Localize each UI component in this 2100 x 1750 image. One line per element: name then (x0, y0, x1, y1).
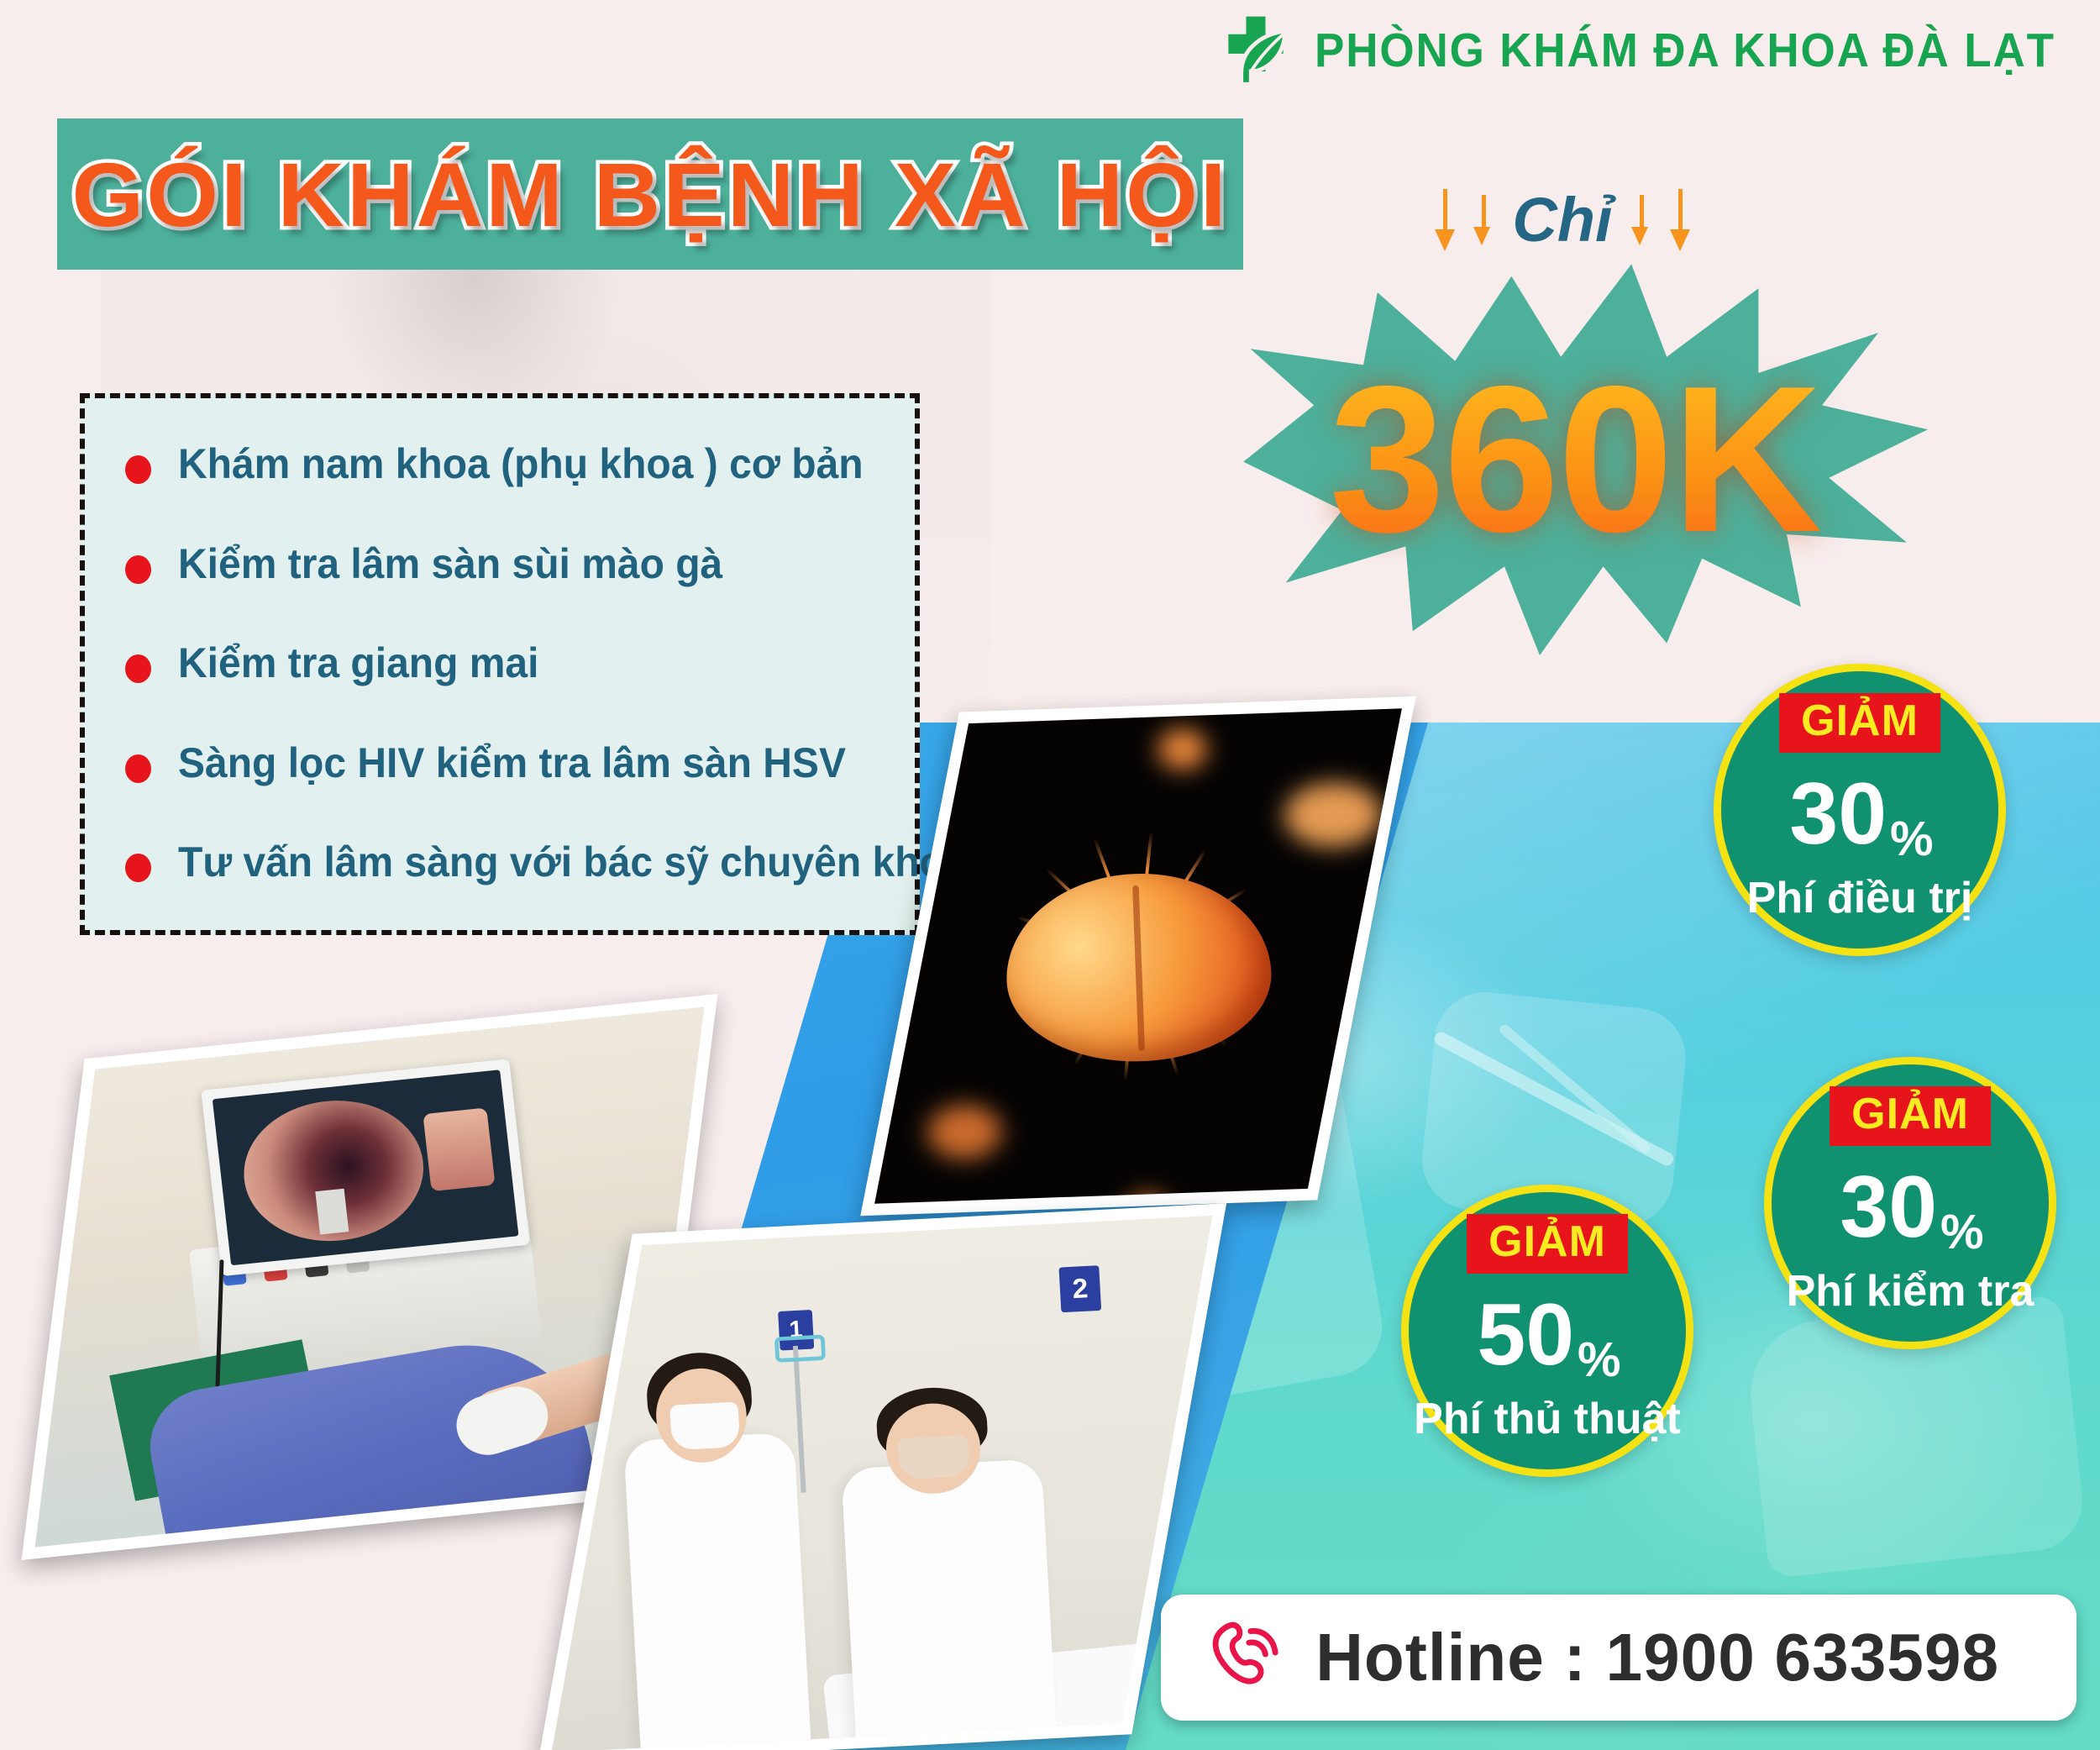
bullet-dot-icon (125, 754, 151, 783)
brand-name: PHÒNG KHÁM ĐA KHOA ĐÀ LẠT (1315, 23, 2055, 78)
service-label: Tư vấn lâm sàng với bác sỹ chuyên khoa (178, 840, 967, 885)
discount-badge-checkup: GIẢM 30% Phí kiểm tra (1764, 1057, 2056, 1349)
room-number-label: 2 (1059, 1265, 1102, 1312)
badge-percent-symbol: % (1890, 812, 1934, 866)
price-prefix-row: Chỉ (1378, 180, 1747, 260)
title-banner: GÓI KHÁM BỆNH XÃ HỘI (57, 118, 1243, 270)
service-label: Kiểm tra lâm sàn sùi mào gà (178, 542, 722, 586)
list-item: Khám nam khoa (phụ khoa ) cơ bản (125, 442, 881, 486)
arrow-down-icon (1631, 195, 1651, 245)
medical-cross-leaf-icon (1215, 10, 1296, 91)
badge-ribbon-label: GIẢM (1830, 1086, 1991, 1146)
list-item: Sàng lọc HIV kiểm tra lâm sàn HSV (125, 741, 881, 786)
badge-caption: Phí thủ thuật (1409, 1396, 1686, 1443)
badge-percent-value: 30 (1840, 1159, 1937, 1256)
phone-call-icon (1201, 1615, 1284, 1701)
bullet-dot-icon (125, 555, 151, 584)
doctors-photo-image: 1 2 (551, 1216, 1212, 1750)
badge-percent-symbol: % (1578, 1332, 1621, 1387)
list-item: Tư vấn lâm sàng với bác sỹ chuyên khoa (125, 840, 881, 885)
service-label: Khám nam khoa (phụ khoa ) cơ bản (178, 442, 864, 486)
bullet-dot-icon (125, 455, 151, 484)
brand-header: PHÒNG KHÁM ĐA KHOA ĐÀ LẠT (1215, 10, 2100, 91)
hotline-label: Hotline : 1900 633598 (1315, 1619, 1999, 1696)
doctors-illustration: 1 2 (551, 1216, 1212, 1750)
price-burst: 360K (1222, 252, 1928, 655)
bacteria-illustration (874, 708, 1402, 1204)
page-title: GÓI KHÁM BỆNH XÃ HỘI (71, 142, 1228, 247)
bullet-dot-icon (125, 654, 151, 683)
list-item: Kiểm tra lâm sàn sùi mào gà (125, 542, 881, 586)
bacteria-photo-image (874, 708, 1402, 1204)
badge-ribbon-label: GIẢM (1467, 1214, 1628, 1274)
discount-badge-procedure: GIẢM 50% Phí thủ thuật (1401, 1185, 1693, 1477)
badge-caption: Phí điều trị (1721, 875, 1998, 922)
price-amount: 360K (1222, 257, 1928, 660)
price-prefix-label: Chỉ (1512, 189, 1612, 251)
badge-percent: 30% (1772, 1164, 2049, 1251)
doctor-figure (841, 1458, 1058, 1750)
badge-percent-value: 50 (1477, 1286, 1574, 1384)
doctors-photo: 1 2 (538, 1203, 1226, 1750)
service-label: Sàng lọc HIV kiểm tra lâm sàn HSV (178, 741, 846, 786)
arrow-down-icon (1670, 189, 1690, 251)
service-label: Kiểm tra giang mai (178, 641, 538, 686)
list-item: Kiểm tra giang mai (125, 641, 881, 686)
hotline-bar[interactable]: Hotline : 1900 633598 (1161, 1595, 2076, 1721)
doctor-figure (623, 1432, 813, 1750)
endoscopy-monitor (201, 1059, 530, 1276)
arrow-down-icon (1473, 195, 1494, 245)
bullet-dot-icon (125, 854, 151, 882)
badge-percent-value: 30 (1789, 765, 1887, 863)
badge-percent: 50% (1409, 1291, 1686, 1379)
arrow-down-icon (1435, 189, 1455, 251)
badge-percent: 30% (1721, 770, 1998, 858)
badge-caption: Phí kiểm tra (1772, 1269, 2049, 1315)
badge-ribbon-label: GIẢM (1779, 693, 1940, 753)
discount-badge-treatment: GIẢM 30% Phí điều trị (1714, 664, 2006, 956)
poster-canvas: PHÒNG KHÁM ĐA KHOA ĐÀ LẠT GÓI KHÁM BỆNH … (0, 0, 2100, 1750)
services-list: Khám nam khoa (phụ khoa ) cơ bản Kiểm tr… (80, 393, 920, 935)
badge-percent-symbol: % (1940, 1205, 1984, 1259)
